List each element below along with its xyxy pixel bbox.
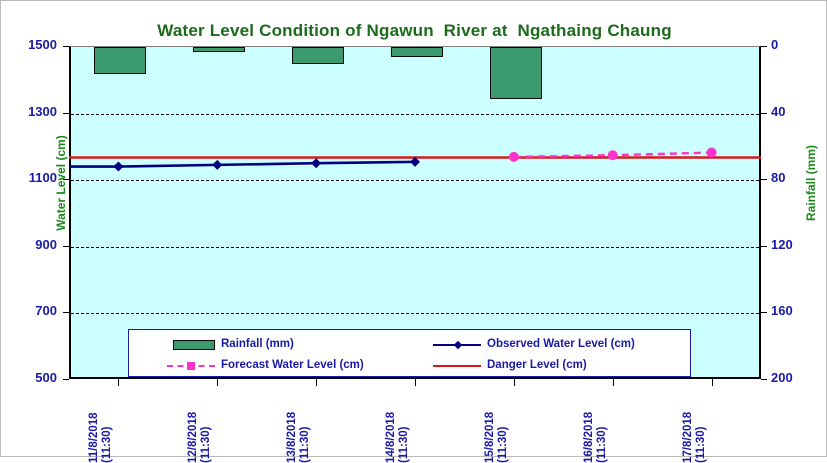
forecast-data-point [707, 148, 717, 158]
x-tick-date: 14/8/2018 [385, 373, 397, 463]
x-tick-date: 15/8/2018 [484, 373, 496, 463]
x-tick-time: (11:30) [596, 373, 608, 463]
chart-screenshot: Water Level Condition of Ngawun River at… [0, 0, 827, 457]
legend-label-forecast: Forecast Water Level (cm) [221, 359, 364, 371]
legend-label-rainfall: Rainfall (mm) [221, 338, 294, 350]
x-tick-time: (11:30) [695, 373, 707, 463]
legend-key-danger-icon [429, 366, 481, 367]
x-tick-date: 11/8/2018 [88, 373, 100, 463]
x-axis-labels: 11/8/2018(11:30)12/8/2018(11:30)13/8/201… [1, 382, 827, 458]
x-tick-date: 16/8/2018 [583, 373, 595, 463]
observed-data-point [311, 158, 321, 168]
x-tick-date: 17/8/2018 [682, 373, 694, 463]
chart-legend: Rainfall (mm) Forecast Water Level (cm) … [128, 329, 691, 377]
forecast-data-point [608, 150, 618, 160]
x-tick-label: 16/8/2018(11:30) [568, 382, 658, 458]
observed-data-point [212, 160, 222, 170]
legend-label-danger: Danger Level (cm) [487, 359, 587, 371]
x-tick-time: (11:30) [200, 373, 212, 463]
x-tick-time: (11:30) [497, 373, 509, 463]
x-tick-label: 11/8/2018(11:30) [73, 382, 163, 458]
legend-key-observed-icon [429, 345, 481, 346]
x-tick-time: (11:30) [101, 373, 113, 463]
legend-key-rainfall-icon [163, 345, 215, 346]
x-tick-label: 13/8/2018(11:30) [271, 382, 361, 458]
x-tick-label: 17/8/2018(11:30) [667, 382, 757, 458]
x-tick-date: 12/8/2018 [187, 373, 199, 463]
x-tick-label: 12/8/2018(11:30) [172, 382, 262, 458]
observed-data-point [113, 162, 123, 172]
x-tick-date: 13/8/2018 [286, 373, 298, 463]
x-tick-time: (11:30) [299, 373, 311, 463]
x-tick-time: (11:30) [398, 373, 410, 463]
forecast-data-point [509, 152, 519, 162]
x-tick-label: 15/8/2018(11:30) [469, 382, 559, 458]
x-tick-label: 14/8/2018(11:30) [370, 382, 460, 458]
legend-label-observed: Observed Water Level (cm) [487, 338, 635, 350]
legend-key-forecast-icon [163, 366, 215, 367]
